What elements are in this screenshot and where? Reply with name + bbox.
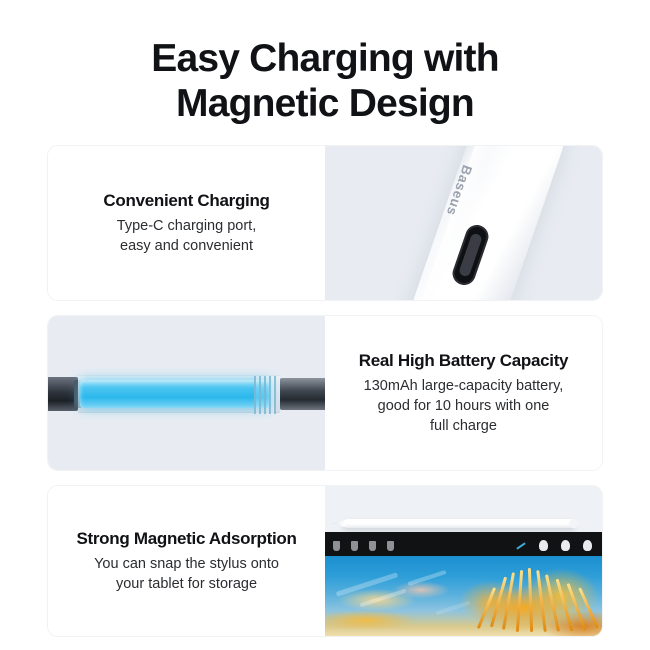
- feature-card-3-title: Strong Magnetic Adsorption: [76, 529, 296, 549]
- feature-card-convenient-charging: Convenient Charging Type-C charging port…: [47, 145, 603, 301]
- toolbar-left-tools: [333, 541, 394, 551]
- feature-card-2-desc-line-3: full charge: [364, 416, 564, 436]
- stylus-usbc-photo: Baseus: [325, 146, 602, 300]
- feature-card-2-title: Real High Battery Capacity: [359, 351, 569, 371]
- stylus-illustration: Baseus: [325, 146, 602, 300]
- battery-glow: [80, 380, 270, 408]
- battery-photo: [48, 316, 325, 470]
- painting-canvas: [325, 556, 602, 636]
- feature-card-1-title: Convenient Charging: [103, 191, 269, 211]
- active-pen-icon: [516, 542, 525, 549]
- feature-card-2-description: 130mAh large-capacity battery, good for …: [364, 376, 564, 436]
- headline-line-2: Magnetic Design: [0, 81, 650, 126]
- page-title: Easy Charging with Magnetic Design: [0, 36, 650, 126]
- battery-cap-left: [48, 377, 78, 411]
- feature-card-3-text-pane: Strong Magnetic Adsorption You can snap …: [48, 486, 325, 636]
- feature-card-2-text-pane: Real High Battery Capacity 130mAh large-…: [325, 316, 602, 470]
- feature-card-2-desc-line-1: 130mAh large-capacity battery,: [364, 376, 564, 396]
- brush-tool-icon: [333, 541, 340, 551]
- tablet-photo: [325, 486, 602, 636]
- feature-card-battery-capacity: Real High Battery Capacity 130mAh large-…: [47, 315, 603, 471]
- feature-card-1-desc-line-2: easy and convenient: [117, 236, 256, 256]
- feature-card-2-desc-line-2: good for 10 hours with one: [364, 396, 564, 416]
- battery-cell: [48, 375, 325, 413]
- feature-card-magnetic-adsorption: Strong Magnetic Adsorption You can snap …: [47, 485, 603, 637]
- feature-card-3-desc-line-2: your tablet for storage: [94, 574, 279, 594]
- feature-card-1-text-pane: Convenient Charging Type-C charging port…: [48, 146, 325, 300]
- layers-icon: [583, 540, 592, 551]
- battery-illustration: [48, 316, 325, 470]
- stylus-body: [386, 146, 580, 300]
- battery-cap-right: [280, 378, 325, 410]
- eraser-tool-icon: [369, 541, 376, 551]
- feature-card-1-desc-line-1: Type-C charging port,: [117, 216, 256, 236]
- product-feature-page: Easy Charging with Magnetic Design Conve…: [0, 0, 650, 650]
- battery-rings: [254, 376, 276, 414]
- feature-card-3-desc-line-1: You can snap the stylus onto: [94, 554, 279, 574]
- feature-card-3-description: You can snap the stylus onto your tablet…: [94, 554, 279, 594]
- smudge-tool-icon: [387, 541, 394, 551]
- color-swatch-1-icon: [539, 540, 548, 551]
- tablet-illustration: [325, 486, 602, 636]
- drawing-app-toolbar: [325, 532, 602, 556]
- color-swatch-2-icon: [561, 540, 570, 551]
- stylus-on-tablet: [343, 519, 575, 528]
- battery-tube: [78, 375, 280, 413]
- headline-line-1: Easy Charging with: [151, 37, 499, 80]
- toolbar-right-tools: [516, 540, 592, 551]
- feature-card-1-description: Type-C charging port, easy and convenien…: [117, 216, 256, 256]
- pencil-tool-icon: [351, 541, 358, 551]
